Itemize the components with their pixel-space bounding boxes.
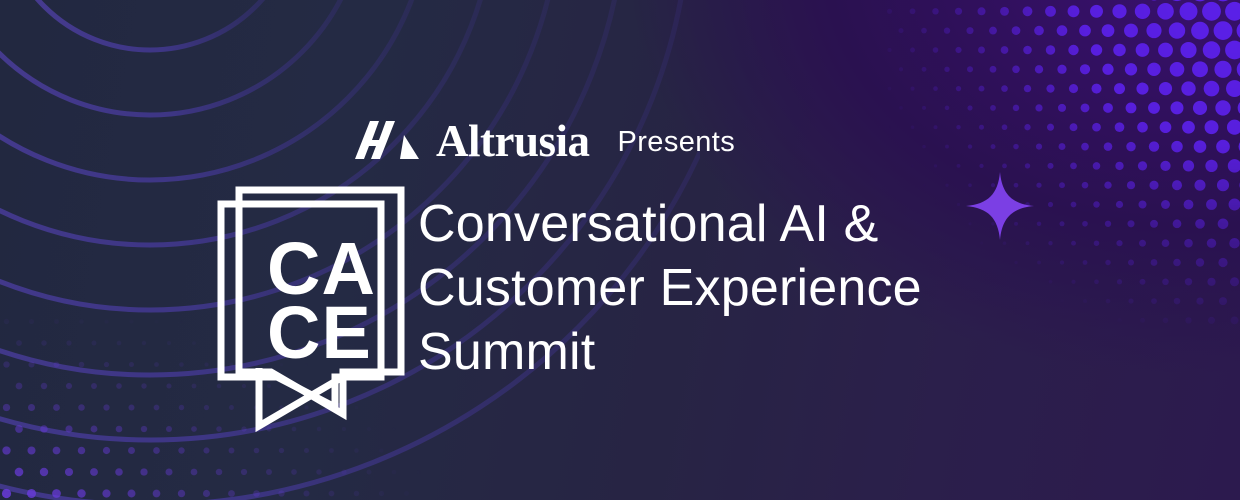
badge-line-2: CE <box>267 291 372 374</box>
headline-line-1: Conversational AI & <box>418 192 1098 256</box>
cace-badge: CA CE <box>215 182 415 434</box>
headline-line-2: Customer Experience <box>418 256 1098 320</box>
brand-name: Altrusia <box>436 119 590 164</box>
altrusia-logo-icon <box>352 121 422 159</box>
presenter-row: Altrusia Presents <box>352 112 735 168</box>
headline-line-3: Summit <box>418 320 1098 384</box>
page-title: Conversational AI & Customer Experience … <box>418 192 1098 384</box>
presents-label: Presents <box>618 128 736 157</box>
event-banner: Altrusia Presents CA CE <box>0 0 1240 500</box>
